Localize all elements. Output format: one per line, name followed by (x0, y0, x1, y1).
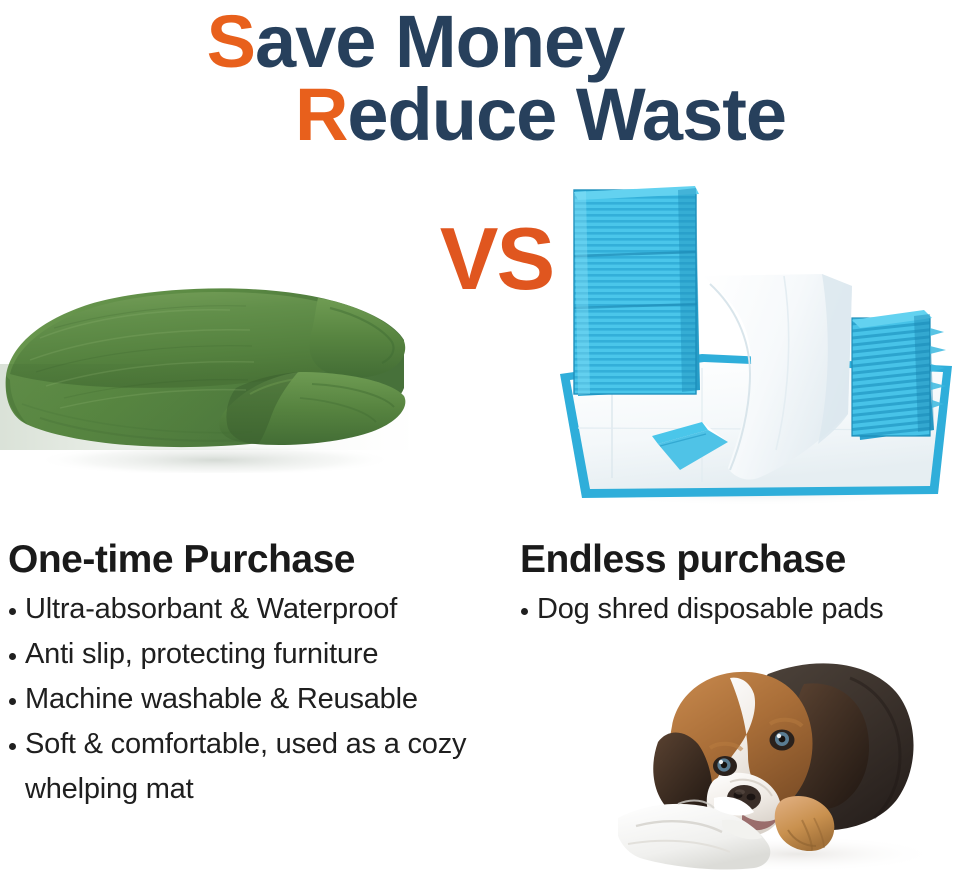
headline-line-2-rest: educe Waste (347, 73, 786, 156)
infographic-root: Save Money Reduce Waste VS (0, 0, 961, 875)
list-item: Dog shred disposable pads (520, 587, 961, 632)
list-item: Ultra-absorbant & Waterproof (8, 587, 508, 632)
list-item: Anti slip, protecting furniture (8, 632, 508, 677)
blanket-product-image (0, 268, 418, 473)
puppy-chewing-pad-image (618, 648, 961, 875)
list-item: Machine washable & Reusable (8, 677, 508, 722)
disposable-pads-product-image (552, 178, 961, 508)
versus-label: VS (424, 215, 569, 303)
right-column-bullet-list: Dog shred disposable pads (520, 587, 961, 632)
left-comparison-column: One-time Purchase Ultra-absorbant & Wate… (8, 540, 508, 812)
headline-line-1-rest: ave Money (255, 0, 624, 83)
headline-line-2: Reduce Waste (0, 79, 961, 152)
headline-accent-letter-r: R (295, 73, 347, 156)
left-column-title: One-time Purchase (8, 540, 508, 581)
headline-accent-letter-s: S (207, 0, 255, 83)
right-comparison-column: Endless purchase Dog shred disposable pa… (520, 540, 961, 632)
left-column-bullet-list: Ultra-absorbant & Waterproof Anti slip, … (8, 587, 508, 812)
headline-line-1: Save Money (0, 6, 961, 79)
headline: Save Money Reduce Waste (0, 6, 961, 151)
right-column-title: Endless purchase (520, 540, 961, 581)
list-item: Soft & comfortable, used as a cozy whelp… (8, 722, 508, 812)
